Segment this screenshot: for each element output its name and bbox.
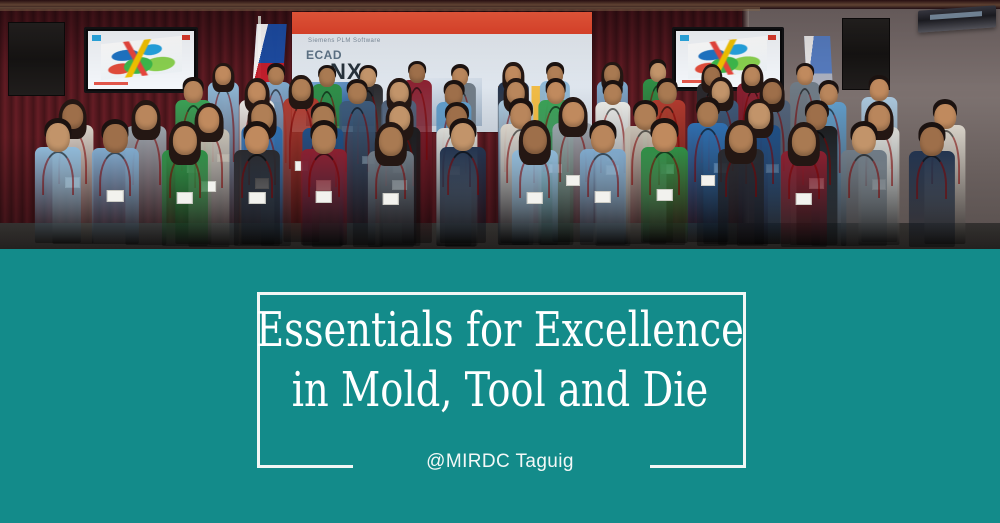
person-head bbox=[919, 127, 943, 156]
projection-header-band bbox=[292, 12, 592, 34]
person bbox=[510, 120, 558, 249]
person-head bbox=[312, 125, 336, 154]
person-lanyard bbox=[848, 154, 880, 198]
person-head bbox=[292, 79, 310, 101]
person-torso bbox=[908, 151, 954, 247]
person bbox=[780, 122, 828, 249]
person bbox=[640, 118, 688, 247]
person bbox=[34, 118, 82, 247]
person-lanyard bbox=[42, 151, 74, 195]
person bbox=[579, 120, 627, 249]
person-torso bbox=[301, 149, 347, 245]
person-name-badge bbox=[527, 192, 543, 204]
cad-slide-footer bbox=[94, 82, 128, 85]
person bbox=[300, 120, 348, 249]
person-head bbox=[319, 68, 335, 87]
person-head bbox=[173, 126, 197, 155]
poster-subtitle: @MIRDC Taguig bbox=[0, 451, 1000, 473]
person-head bbox=[46, 123, 70, 152]
person-torso bbox=[92, 148, 138, 244]
event-photo: Siemens PLM Software ECAD NX bbox=[0, 0, 1000, 249]
event-poster: Siemens PLM Software ECAD NX Essentials … bbox=[0, 0, 1000, 523]
poster-title: Essentials for Excellence in Mold, Tool … bbox=[0, 300, 1000, 420]
person-name-badge bbox=[796, 193, 812, 205]
person-name-badge bbox=[382, 193, 398, 205]
person bbox=[907, 122, 955, 249]
person-torso bbox=[440, 147, 486, 243]
person-head bbox=[523, 126, 547, 155]
person-torso bbox=[580, 149, 626, 245]
person-head bbox=[697, 102, 719, 127]
person-head bbox=[870, 79, 888, 101]
poster-title-line-1: Essentials for Excellence bbox=[100, 300, 900, 360]
person-torso bbox=[641, 147, 687, 243]
person-head bbox=[348, 83, 366, 105]
person-torso bbox=[234, 150, 280, 246]
person-head bbox=[184, 81, 202, 103]
person-name-badge bbox=[177, 192, 193, 204]
person-name-badge bbox=[701, 175, 716, 186]
person-head bbox=[604, 84, 622, 106]
ceiling-trim-highlight bbox=[0, 7, 760, 11]
projection-eyebrow-text: Siemens PLM Software bbox=[308, 38, 381, 44]
photo-scene: Siemens PLM Software ECAD NX bbox=[0, 0, 1000, 249]
person bbox=[91, 119, 139, 248]
person-name-badge bbox=[656, 189, 672, 201]
person bbox=[439, 118, 487, 247]
person-lanyard bbox=[916, 155, 948, 199]
cad-render-art bbox=[101, 36, 182, 80]
person bbox=[366, 122, 414, 249]
person-head bbox=[792, 127, 816, 156]
person-head bbox=[103, 124, 127, 153]
person-head bbox=[652, 123, 676, 152]
poster-title-line-2: in Mold, Tool and Die bbox=[100, 360, 900, 420]
person-name-badge bbox=[107, 190, 123, 202]
person-name-badge bbox=[595, 191, 611, 203]
person-torso bbox=[35, 147, 81, 243]
person-head bbox=[591, 125, 615, 154]
person-head bbox=[378, 127, 402, 156]
person bbox=[717, 120, 765, 249]
person-head bbox=[852, 126, 876, 155]
person-head bbox=[451, 123, 475, 152]
person-torso bbox=[841, 150, 887, 246]
person-head bbox=[215, 66, 231, 85]
speaker-left-icon bbox=[8, 22, 65, 96]
person bbox=[161, 121, 209, 249]
person-lanyard bbox=[447, 151, 479, 195]
person-name-badge bbox=[249, 192, 265, 204]
person-head bbox=[245, 126, 269, 155]
person-name-badge bbox=[316, 191, 332, 203]
person bbox=[840, 121, 888, 249]
person-head bbox=[729, 125, 753, 154]
person bbox=[233, 121, 281, 249]
